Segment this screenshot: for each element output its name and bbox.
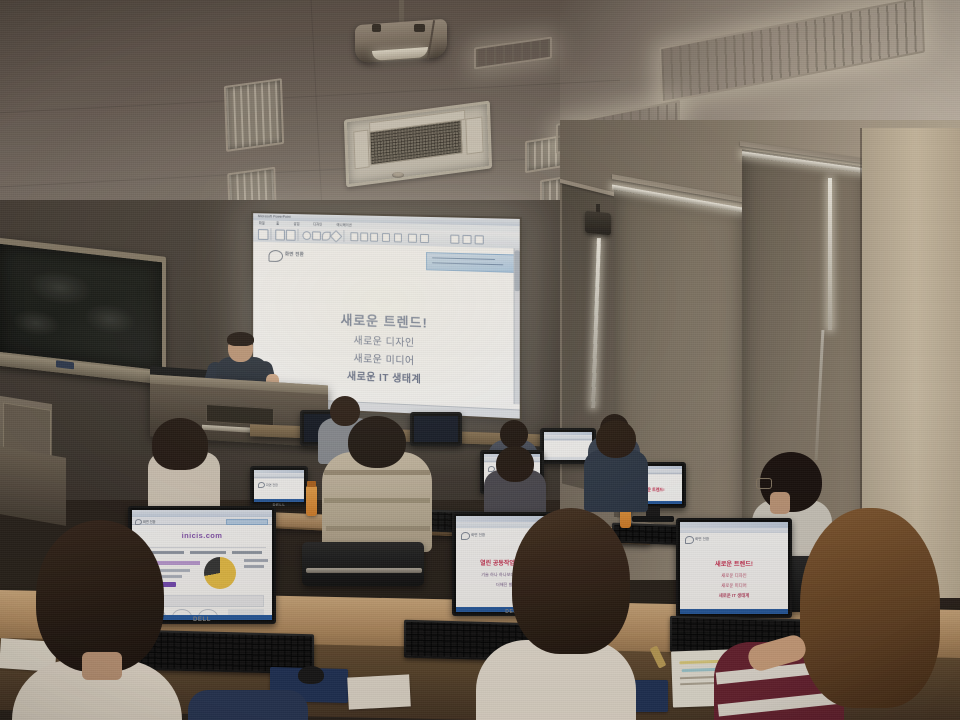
menu-item-file[interactable]: 파일 — [259, 222, 265, 225]
glasses-icon — [756, 478, 772, 489]
student-front-center-head — [512, 508, 630, 654]
monitor-front-right: 화면 전환 새로운 트렌드! 새로운 디자인 새로운 미디어 새로운 IT 생태… — [676, 518, 792, 618]
speech-bubble-icon — [135, 519, 142, 525]
mini-slide-sub-3: 새로운 IT 생태계 — [680, 593, 788, 599]
site-logo: inicis.com — [132, 531, 272, 540]
mini-slide-tag: 화면 전환 — [266, 483, 278, 487]
ribbon-select-icon[interactable] — [475, 235, 484, 244]
speech-bubble-icon — [258, 482, 265, 488]
monitor-base — [632, 516, 674, 522]
monitor-brand: DELL — [193, 617, 211, 623]
air-vent — [224, 78, 284, 152]
student-row2-mid-head — [496, 446, 534, 482]
mini-slide-sub-2: 새로운 미디어 — [680, 583, 788, 589]
student-front-right-head — [800, 508, 940, 708]
ribbon-layout-icon[interactable] — [286, 230, 296, 241]
text-line — [244, 565, 264, 568]
mini-slide-tag: 화면 전환 — [695, 537, 709, 542]
browser-tag: 화면 전환 — [143, 519, 156, 524]
chair — [302, 542, 424, 586]
divider — [138, 547, 266, 548]
projector-knob — [414, 24, 425, 32]
student-row3-mid-head — [500, 420, 528, 448]
slide-tag-label: 화면 전환 — [285, 251, 304, 257]
student-row2-right-head — [596, 420, 636, 458]
student-front-left-neck — [82, 652, 122, 680]
chalkboard — [0, 237, 166, 385]
highlight-yellow — [679, 660, 719, 664]
mouse[interactable] — [298, 666, 324, 684]
note-line — [432, 262, 503, 265]
menu-item-insert[interactable]: 삽입 — [294, 222, 300, 225]
ac-flap — [465, 117, 483, 155]
ribbon-shape-circle-icon[interactable] — [302, 231, 311, 240]
handout-paper — [347, 674, 411, 709]
shirt-stripe — [324, 470, 430, 475]
mini-slide-heading: 새로운 트렌드! — [680, 559, 788, 568]
student-row2-left-head — [152, 418, 208, 470]
projector-knob — [372, 24, 381, 32]
app-title: Microsoft PowerPoint — [258, 215, 291, 219]
student-row3-left-head — [330, 396, 360, 426]
nav-item[interactable] — [232, 551, 262, 554]
instructor-hair — [227, 332, 254, 346]
ribbon-newslide-icon[interactable] — [275, 229, 285, 240]
ribbon-arrange-icon[interactable] — [408, 234, 417, 243]
speech-bubble-icon — [269, 250, 283, 262]
ribbon-divider — [298, 229, 299, 241]
ribbon-align-icon[interactable] — [382, 233, 390, 242]
browser-toolbar: 화면 전환 — [132, 517, 272, 525]
ribbon-divider — [343, 230, 344, 242]
monitor-row2-left: 화면 전환 DELL — [250, 466, 308, 506]
ribbon-divider — [270, 228, 271, 240]
drink-bottle — [306, 486, 317, 516]
shirt-stripe — [326, 526, 430, 531]
chalk-smudge — [28, 267, 92, 308]
ribbon-replace-icon[interactable] — [462, 235, 471, 244]
ribbon-paste-icon[interactable] — [258, 229, 269, 240]
ribbon-italic-icon[interactable] — [360, 232, 368, 241]
scrollbar[interactable] — [514, 248, 520, 404]
taskbar — [680, 609, 788, 614]
speech-bubble-icon — [685, 536, 694, 544]
podium-panel — [206, 404, 274, 426]
student-row2-center-head — [348, 416, 406, 468]
monitor-row3-center — [410, 412, 462, 446]
mini-slide-sub-1: 새로운 디자인 — [680, 573, 788, 579]
browser-titlebar — [132, 510, 272, 517]
student-front-left-sleeve — [188, 690, 308, 720]
chalk-smudge — [12, 307, 60, 338]
chair-bar — [306, 568, 422, 573]
classroom-photo: Microsoft PowerPoint 파일 홈 삽입 디자인 애니메이션 — [0, 0, 960, 720]
speech-bubble-icon — [461, 532, 470, 540]
ribbon-find-icon[interactable] — [450, 235, 459, 244]
wall-speaker — [585, 211, 611, 236]
menu-item-design[interactable]: 디자인 — [313, 223, 322, 226]
note-line — [432, 257, 495, 260]
browser-addressbar[interactable] — [226, 519, 268, 525]
slide-canvas: 화면 전환 새로운 트렌드! 새로운 디자인 새로운 미디어 새로운 IT 생태… — [680, 533, 788, 609]
ribbon-shape-square-icon[interactable] — [312, 231, 321, 240]
ribbon-bold-icon[interactable] — [350, 232, 358, 241]
ribbon-shape-diamond-icon[interactable] — [330, 230, 342, 243]
ribbon-quickstyle-icon[interactable] — [420, 234, 429, 243]
ribbon-underline-icon[interactable] — [370, 233, 378, 242]
mini-slide-tag: 화면 전환 — [471, 533, 485, 538]
student-row2-right-torso — [584, 450, 648, 512]
ribbon-list-icon[interactable] — [394, 233, 402, 242]
text-line — [244, 559, 268, 562]
student-front-left-head — [36, 520, 164, 672]
sprinkler-head — [392, 172, 404, 178]
shirt-stripe — [324, 498, 430, 503]
menu-item-home[interactable]: 홈 — [276, 222, 279, 225]
student-glasses-neck — [770, 492, 790, 514]
scrollbar-thumb[interactable] — [515, 250, 520, 291]
nav-item[interactable] — [190, 551, 226, 554]
slide-note-box — [426, 252, 516, 273]
mini-ribbon — [544, 435, 592, 440]
side-counter — [0, 446, 66, 526]
menu-item-animation[interactable]: 애니메이션 — [337, 223, 352, 227]
mini-ribbon — [254, 473, 304, 478]
pie-chart-graphic — [204, 557, 236, 589]
ac-flap — [353, 130, 369, 170]
blind-light-leak — [828, 178, 832, 330]
bottle-cap — [307, 481, 316, 487]
chalk-smudge — [84, 301, 136, 337]
chalkboard-surface — [0, 244, 162, 371]
